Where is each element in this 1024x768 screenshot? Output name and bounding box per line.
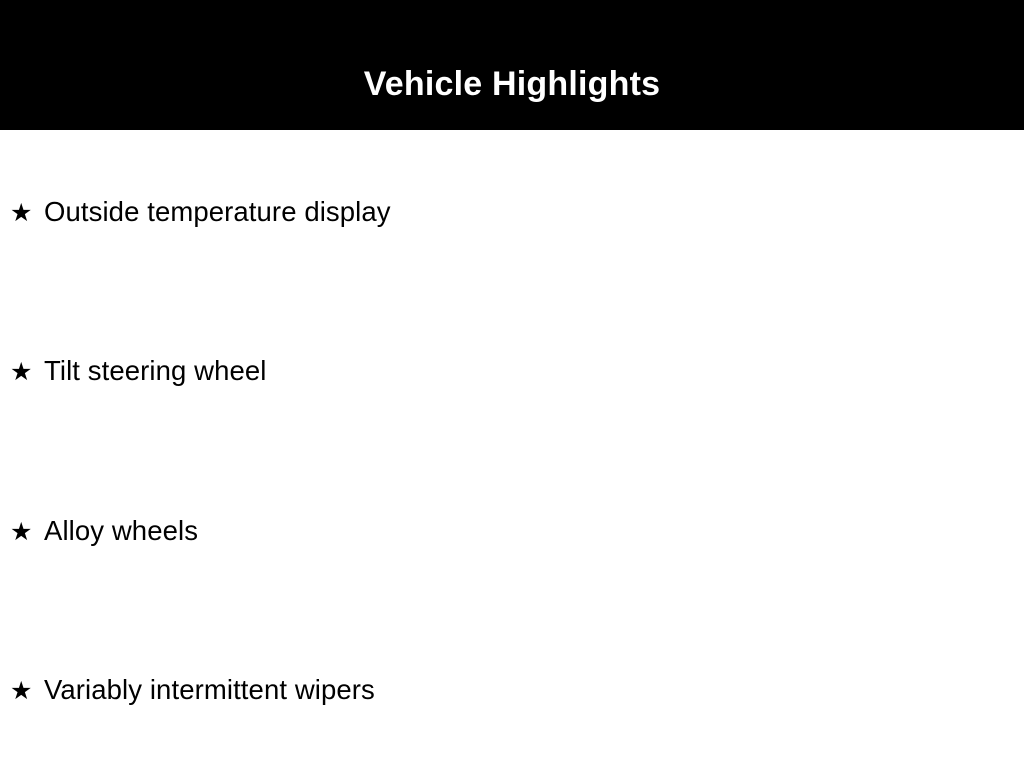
list-item-label: Variably intermittent wipers bbox=[44, 676, 375, 704]
list-item: ★ Tilt steering wheel bbox=[10, 357, 267, 385]
star-icon: ★ bbox=[10, 359, 44, 384]
list-item: ★ Alloy wheels bbox=[10, 517, 198, 545]
list-item-label: Tilt steering wheel bbox=[44, 357, 267, 385]
slide: Vehicle Highlights ★ Outside temperature… bbox=[0, 0, 1024, 768]
star-icon: ★ bbox=[10, 519, 44, 544]
list-item: ★ Outside temperature display bbox=[10, 198, 391, 226]
list-item: ★ Variably intermittent wipers bbox=[10, 676, 375, 704]
star-icon: ★ bbox=[10, 200, 44, 225]
list-item-label: Outside temperature display bbox=[44, 198, 391, 226]
vehicle-highlights-list: ★ Outside temperature display ★ Tilt ste… bbox=[0, 130, 1024, 768]
star-icon: ★ bbox=[10, 678, 44, 703]
list-item-label: Alloy wheels bbox=[44, 517, 198, 545]
